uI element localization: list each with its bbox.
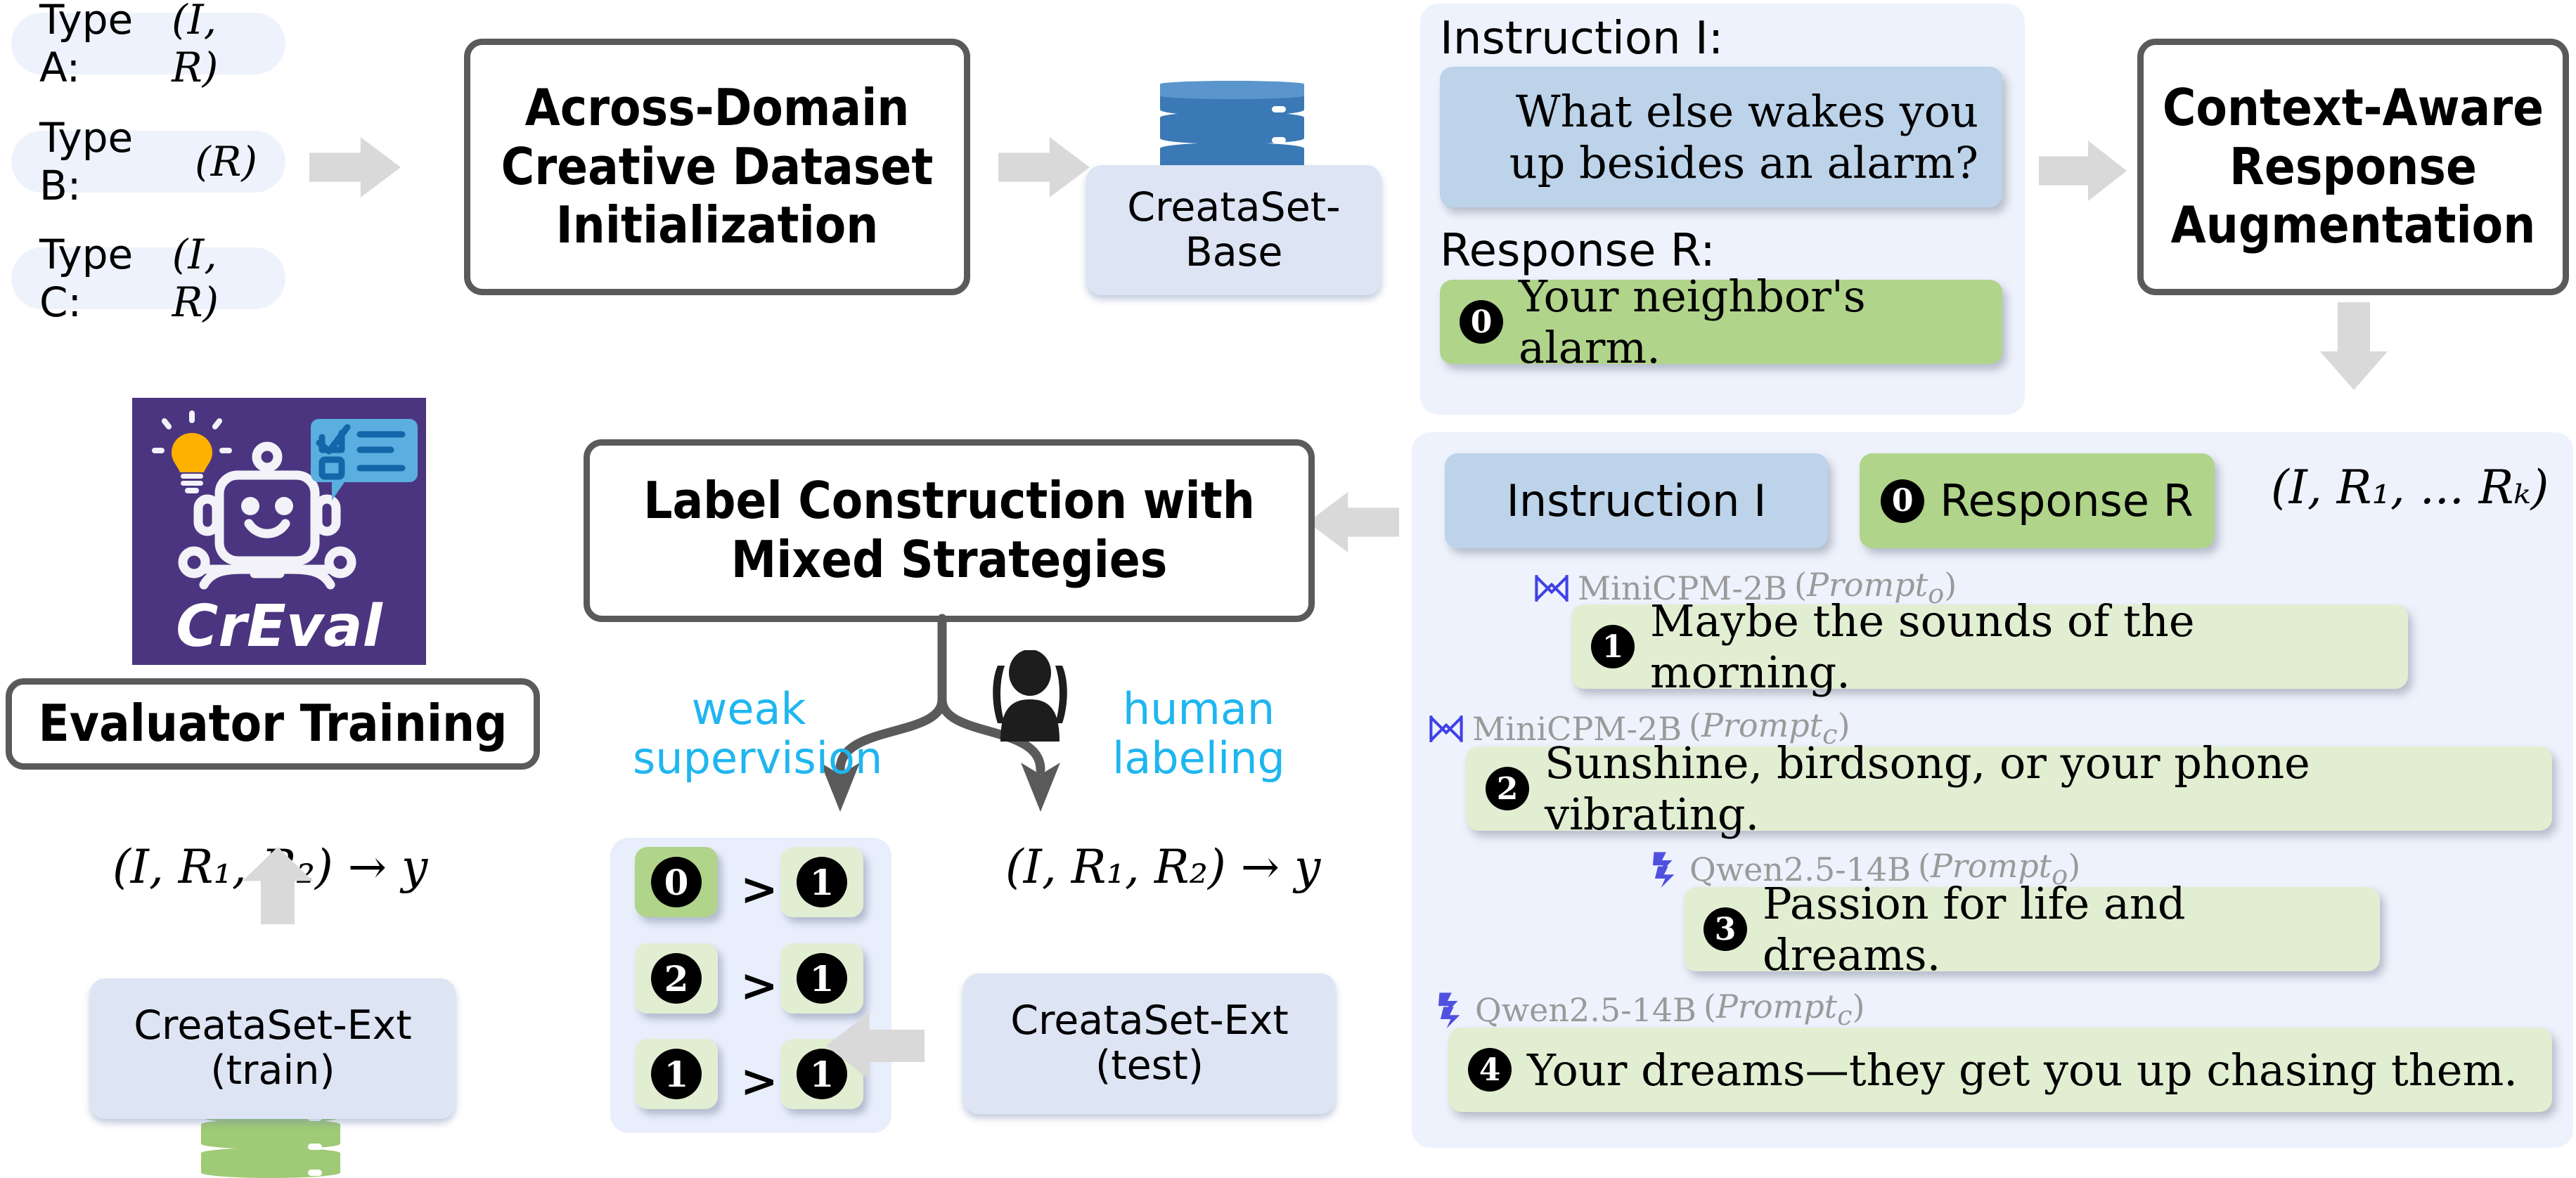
qwen-icon [1642,849,1682,890]
human-label-formula: (I, R₁, R₂) → y [1005,840,1320,894]
input-type-c-label: Type C: [39,231,161,326]
row-4-badge: 4 [1468,1048,1512,1092]
stage-augmentation-label: Context-Aware Response Augmentation [2163,79,2544,255]
row-1-badge: 1 [1591,625,1635,668]
response-badge: 0 [1460,300,1503,344]
row-2-text: Sunshine, birdsong, or your phone vibrat… [1545,737,2532,840]
input-type-a: Type A: (I, R) [11,13,285,75]
comparison-left-badge-3: 1 [651,1049,702,1099]
input-type-b-label: Type B: [39,114,183,209]
row-1-text: Maybe the sounds of the morning. [1650,595,2388,698]
comparison-right-badge-2: 1 [797,953,847,1004]
input-type-b: Type B: (R) [11,131,285,193]
augmented-response-chip[interactable]: 0 Response R [1860,453,2215,548]
instruction-heading: Instruction I: [1440,13,1723,65]
creataset-base-card[interactable]: CreataSet- Base [1086,165,1382,295]
creataset-base-db-icon [1160,81,1304,176]
augmented-response-badge: 0 [1881,479,1924,523]
augmented-response-row-3[interactable]: 3 Passion for life and dreams. [1684,887,2380,971]
stage-initialization-label: Across-Domain Creative Dataset Initializ… [501,79,934,255]
creval-logo: CrEval [132,398,426,665]
qwen-icon [1427,990,1468,1030]
augmented-response-row-1[interactable]: 1 Maybe the sounds of the morning. [1571,604,2408,689]
creataset-ext-train-label: CreataSet-Ext (train) [134,1004,412,1094]
augmented-instruction-chip[interactable]: Instruction I [1445,453,1828,548]
input-type-c-tuple: (I, R) [172,231,257,326]
model-name-row-4: Qwen2.5-14B [1475,991,1696,1029]
creataset-base-label: CreataSet- Base [1127,186,1340,276]
row-3-badge: 3 [1704,907,1747,951]
creataset-ext-train-card[interactable]: CreataSet-Ext (train) [90,978,456,1119]
comparison-right-badge-1: 1 [797,857,847,907]
augmented-response-row-4[interactable]: 4 Your dreams—they get you up chasing th… [1448,1028,2552,1112]
input-type-a-label: Type A: [39,0,160,91]
stage-initialization[interactable]: Across-Domain Creative Dataset Initializ… [464,39,970,295]
comparison-gt-3: > [740,1055,778,1108]
arrow-initialization-to-base [998,137,1090,198]
comparison-cell-left-3[interactable]: 1 [635,1039,718,1109]
comparison-cell-right-2[interactable]: 1 [780,943,863,1014]
stage-label-construction[interactable]: Label Construction with Mixed Strategies [584,439,1315,622]
stage-evaluator-training-label: Evaluator Training [38,694,507,753]
stage-augmentation[interactable]: Context-Aware Response Augmentation [2137,39,2569,295]
row-4-text: Your dreams—they get you up chasing them… [1527,1044,2518,1096]
augmented-instruction-label: Instruction I [1507,475,1767,526]
prompt-name-row-4: Prompt [1716,988,1837,1025]
stage-evaluator-training[interactable]: Evaluator Training [6,678,540,770]
instruction-text: What else wakes you up besides an alarm? [1464,86,1978,188]
arrow-augmented-to-label-construction [1308,492,1399,552]
minicpm-icon [1427,710,1465,748]
checklist-bubble-icon [308,419,420,507]
comparison-cell-left-1[interactable]: 0 [635,847,718,917]
human-labeling-label: human labeling [1083,636,1315,782]
arrow-inputs-to-initialization [309,137,401,198]
augmented-response-row-2[interactable]: 2 Sunshine, birdsong, or your phone vibr… [1466,746,2552,831]
input-type-c: Type C: (I, R) [11,247,285,309]
model-label-row-4: Qwen2.5-14B (Promptc) [1427,988,1865,1032]
weak-supervision-label: weak supervision [633,636,865,782]
arrow-augmentation-to-results [2320,302,2388,390]
comparison-left-badge-1: 0 [651,857,702,907]
creataset-ext-test-card[interactable]: CreataSet-Ext (test) [963,973,1336,1114]
response-heading: Response R: [1440,225,1715,277]
input-type-a-tuple: (I, R) [172,0,257,91]
augmented-response-label: Response R [1940,475,2194,526]
minicpm-icon [1533,569,1571,607]
comparison-gt-2: > [740,959,778,1012]
comparison-cell-right-1[interactable]: 1 [780,847,863,917]
input-type-b-tuple: (R) [195,138,257,186]
comparison-gt-1: > [740,863,778,916]
augmented-tuple-label: (I, R₁, ... Rₖ) [2271,460,2549,514]
instruction-chip[interactable]: What else wakes you up besides an alarm? [1440,67,2002,207]
response-text: Your neighbor's alarm. [1519,271,1983,373]
row-3-text: Passion for life and dreams. [1763,878,2360,980]
comparison-left-badge-2: 2 [651,953,702,1004]
stage-label-construction-label: Label Construction with Mixed Strategies [643,472,1255,589]
comparison-cell-left-2[interactable]: 2 [635,943,718,1014]
creataset-ext-test-label: CreataSet-Ext (test) [1010,999,1289,1089]
response-chip[interactable]: 0 Your neighbor's alarm. [1440,280,2002,364]
arrow-example-to-augmentation [2039,141,2127,201]
row-2-badge: 2 [1486,767,1529,810]
creval-logo-text: CrEval [132,593,426,660]
person-icon [988,650,1072,742]
